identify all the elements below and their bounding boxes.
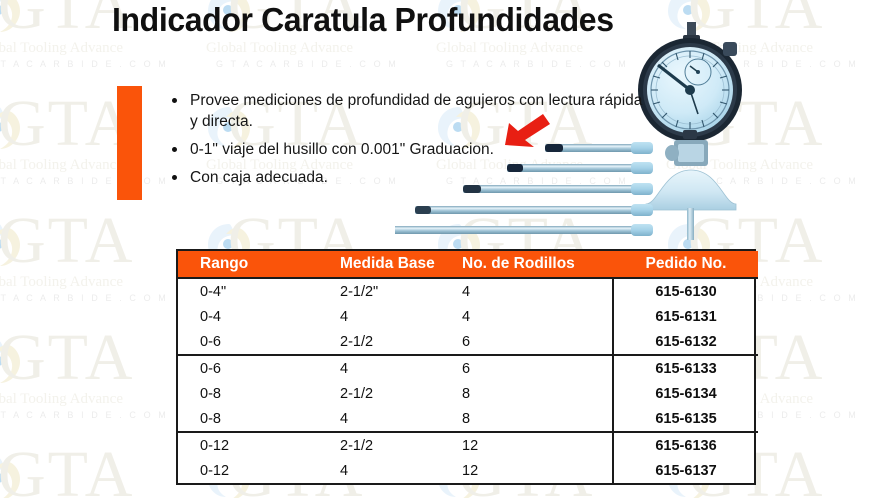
product-sheet: GTAGlobal Tooling AdvanceG T A C A R B I… xyxy=(0,0,885,498)
cell-medida-base: 4 xyxy=(322,304,450,329)
cell-rango: 0-8 xyxy=(178,381,322,406)
cell-medida-base: 2-1/2 xyxy=(322,381,450,406)
table-row: 0-82-1/28615-6134 xyxy=(178,381,758,406)
watermark-site: G T A C A R B I D E . C O M xyxy=(446,59,628,69)
cell-rango: 0-12 xyxy=(178,432,322,458)
table-row: 0-62-1/26615-6132 xyxy=(178,329,758,355)
cell-pedido-no: 615-6130 xyxy=(613,278,758,304)
cell-rango: 0-4" xyxy=(178,278,322,304)
table-header-row: Rango Medida Base No. de Rodillos Pedido… xyxy=(178,251,758,278)
table-row: 0-12412615-6137 xyxy=(178,458,758,483)
cell-pedido-no: 615-6134 xyxy=(613,381,758,406)
cell-rodillos: 4 xyxy=(450,278,613,304)
cell-pedido-no: 615-6131 xyxy=(613,304,758,329)
column-header-pedido: Pedido No. xyxy=(613,251,758,278)
cell-rango: 0-6 xyxy=(178,329,322,355)
table-body: 0-4"2-1/2"4615-61300-444615-61310-62-1/2… xyxy=(178,278,758,483)
watermark-gta-text: GTA xyxy=(0,442,134,498)
cell-rodillos: 4 xyxy=(450,304,613,329)
cell-pedido-no: 615-6133 xyxy=(613,355,758,381)
gta-swirl-logo-icon xyxy=(0,222,22,268)
cell-rango: 0-12 xyxy=(178,458,322,483)
cell-rodillos: 8 xyxy=(450,406,613,432)
column-header-rodillos: No. de Rodillos xyxy=(450,251,613,278)
spec-table: Rango Medida Base No. de Rodillos Pedido… xyxy=(176,249,756,485)
cell-rango: 0-4 xyxy=(178,304,322,329)
feature-text: Provee mediciones de profundidad de aguj… xyxy=(190,92,642,130)
cell-medida-base: 2-1/2 xyxy=(322,432,450,458)
table-row: 0-646615-6133 xyxy=(178,355,758,381)
cell-pedido-no: 615-6132 xyxy=(613,329,758,355)
cell-rodillos: 6 xyxy=(450,329,613,355)
watermark-site: G T A C A R B I D E . C O M xyxy=(0,293,168,303)
feature-list: Provee mediciones de profundidad de aguj… xyxy=(168,90,648,195)
cell-pedido-no: 615-6136 xyxy=(613,432,758,458)
bullet-dot-icon xyxy=(172,98,177,103)
watermark-tagline: Global Tooling Advance xyxy=(0,391,123,408)
cell-pedido-no: 615-6137 xyxy=(613,458,758,483)
watermark-gta-text: GTA xyxy=(0,91,134,157)
cell-rango: 0-6 xyxy=(178,355,322,381)
orange-accent-bar xyxy=(117,86,142,200)
table-row: 0-122-1/212615-6136 xyxy=(178,432,758,458)
cell-rodillos: 12 xyxy=(450,432,613,458)
watermark-tagline: Global Tooling Advance xyxy=(206,40,353,57)
page-title: Indicador Caratula Profundidades xyxy=(112,1,614,39)
cell-rodillos: 12 xyxy=(450,458,613,483)
bullet-dot-icon xyxy=(172,175,177,180)
table-row: 0-4"2-1/2"4615-6130 xyxy=(178,278,758,304)
bullet-dot-icon xyxy=(172,147,177,152)
cell-pedido-no: 615-6135 xyxy=(613,406,758,432)
cell-medida-base: 4 xyxy=(322,355,450,381)
column-header-medida-base: Medida Base xyxy=(322,251,450,278)
cell-medida-base: 4 xyxy=(322,406,450,432)
cell-rodillos: 8 xyxy=(450,381,613,406)
watermark-site: G T A C A R B I D E . C O M xyxy=(0,59,168,69)
column-header-rango: Rango xyxy=(178,251,322,278)
watermark-tile: GTAGlobal Tooling AdvanceG T A C A R B I… xyxy=(0,331,200,448)
gta-swirl-logo-icon xyxy=(0,0,22,34)
red-pointer-arrow-icon xyxy=(503,112,555,155)
watermark-tagline: Global Tooling Advance xyxy=(0,274,123,291)
watermark-gta-text: GTA xyxy=(0,325,134,391)
watermark-tagline: Global Tooling Advance xyxy=(0,40,123,57)
watermark-tile: GTAGlobal Tooling AdvanceG T A C A R B I… xyxy=(0,448,200,498)
cell-medida-base: 4 xyxy=(322,458,450,483)
feature-text: 0-1" viaje del husillo con 0.001" Gradua… xyxy=(190,141,494,158)
list-item: 0-1" viaje del husillo con 0.001" Gradua… xyxy=(168,139,648,160)
watermark-tagline: Global Tooling Advance xyxy=(436,40,583,57)
gta-swirl-logo-icon xyxy=(0,105,22,151)
table-row: 0-444615-6131 xyxy=(178,304,758,329)
gta-swirl-logo-icon xyxy=(0,456,22,498)
table-row: 0-848615-6135 xyxy=(178,406,758,432)
list-item: Con caja adecuada. xyxy=(168,167,648,188)
cell-medida-base: 2-1/2" xyxy=(322,278,450,304)
watermark-site: G T A C A R B I D E . C O M xyxy=(0,410,168,420)
feature-text: Con caja adecuada. xyxy=(190,169,328,186)
watermark-site: G T A C A R B I D E . C O M xyxy=(0,176,168,186)
watermark-gta-text: GTA xyxy=(0,208,134,274)
cell-medida-base: 2-1/2 xyxy=(322,329,450,355)
gta-swirl-logo-icon xyxy=(0,339,22,385)
watermark-tile: GTAGlobal Tooling AdvanceG T A C A R B I… xyxy=(0,214,200,331)
watermark-tagline: Global Tooling Advance xyxy=(0,157,123,174)
watermark-site: G T A C A R B I D E . C O M xyxy=(216,59,398,69)
list-item: Provee mediciones de profundidad de aguj… xyxy=(168,90,648,132)
cell-rango: 0-8 xyxy=(178,406,322,432)
cell-rodillos: 6 xyxy=(450,355,613,381)
